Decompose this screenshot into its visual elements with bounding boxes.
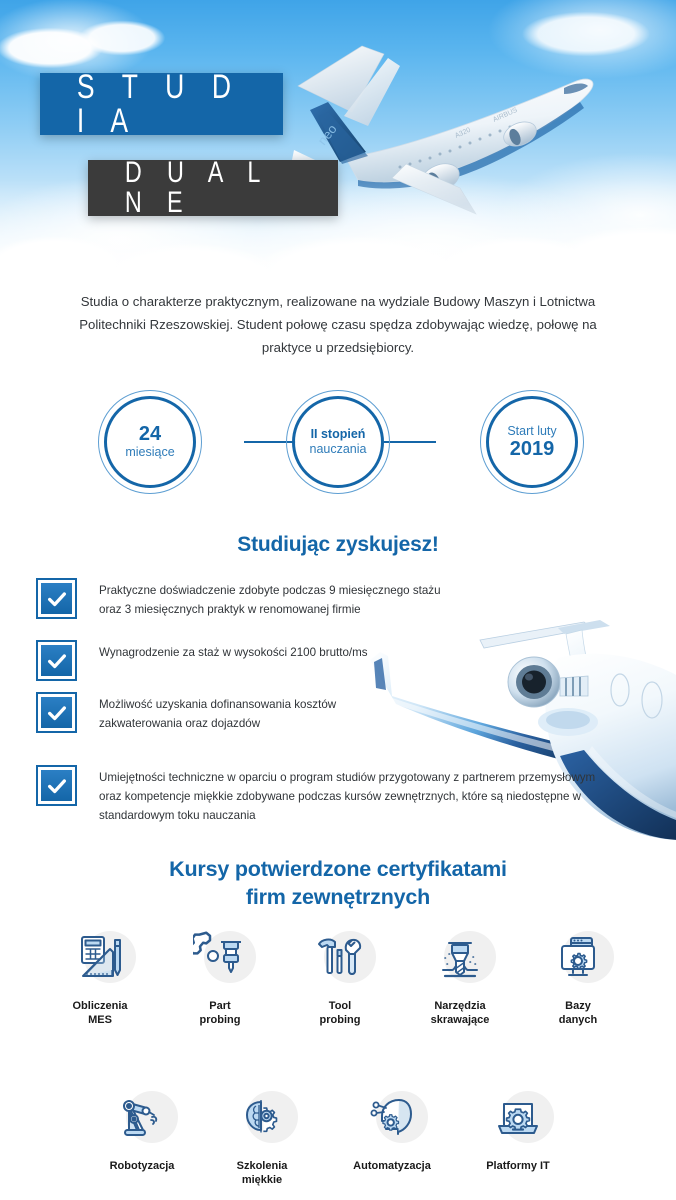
intro-paragraph: Studia o charakterze praktycznym, realiz… (60, 290, 616, 359)
course-item-bazy-danych: Bazydanych (518, 925, 638, 1027)
fact-start-label: Start luty (507, 424, 556, 438)
hammer-wrench-screwdriver-icon (280, 925, 400, 989)
course-item-robotyzacja: Robotyzacja (82, 1085, 202, 1173)
benefit-item: Wynagrodzenie za staż w wysokości 2100 b… (36, 640, 456, 681)
facts-row: 24 miesiące II stopień nauczania Start l… (0, 390, 676, 500)
inner-ring: Start luty 2019 (486, 396, 578, 488)
fact-circle-duration: 24 miesiące (104, 396, 196, 488)
inner-ring: II stopień nauczania (292, 396, 384, 488)
brain-gear-icon (202, 1085, 322, 1149)
course-label: Bazydanych (518, 999, 638, 1027)
course-item-narzedzia-skrawajace: Narzędziaskrawające (400, 925, 520, 1027)
hero-section: AIRBUS A320 neo (0, 0, 676, 300)
course-item-obliczenia-mes: ObliczeniaMES (40, 925, 160, 1027)
benefit-text: Wynagrodzenie za staż w wysokości 2100 b… (99, 640, 368, 662)
course-item-szkolenia-miekkie: Szkoleniamiękkie (202, 1085, 322, 1187)
laptop-gear-icon (458, 1085, 578, 1149)
course-item-part-probing: Partprobing (160, 925, 280, 1027)
course-label: Toolprobing (280, 999, 400, 1027)
fact-duration-unit: miesiące (125, 445, 174, 459)
title-band-studia: S T U D I A (40, 73, 283, 135)
course-label: Robotyzacja (82, 1159, 202, 1173)
check-icon (36, 692, 77, 733)
courses-row-1: ObliczeniaMES Partprobing (0, 925, 676, 1055)
milling-cutter-icon (400, 925, 520, 989)
benefit-item: Umiejętności techniczne w oparciu o prog… (36, 765, 606, 825)
title-studia: S T U D I A (67, 70, 257, 138)
course-label: Szkoleniamiękkie (202, 1159, 322, 1187)
course-label: Partprobing (160, 999, 280, 1027)
courses-heading-line1: Kursy potwierdzone certyfikatami (0, 855, 676, 883)
fact-level-label: nauczania (310, 442, 367, 456)
fact-circle-start: Start luty 2019 (486, 396, 578, 488)
course-label: ObliczeniaMES (40, 999, 160, 1027)
courses-heading-line2: firm zewnętrznych (0, 883, 676, 911)
monitor-gear-icon (518, 925, 638, 989)
fact-start-year: 2019 (510, 439, 555, 460)
courses-heading: Kursy potwierdzone certyfikatami firm ze… (0, 855, 676, 911)
check-icon (36, 765, 77, 806)
title-band-dualne: D U A L N E (88, 160, 338, 216)
fact-duration-value: 24 (139, 424, 161, 445)
connector-right (384, 441, 436, 443)
title-dualne: D U A L N E (116, 158, 311, 218)
course-item-tool-probing: Toolprobing (280, 925, 400, 1027)
head-gear-network-icon (332, 1085, 452, 1149)
benefits-heading: Studiując zyskujesz! (0, 533, 676, 557)
benefit-item: Praktyczne doświadczenie zdobyte podczas… (36, 578, 456, 619)
course-label: Narzędziaskrawające (400, 999, 520, 1027)
inner-ring: 24 miesiące (104, 396, 196, 488)
fact-circle-level: II stopień nauczania (292, 396, 384, 488)
benefit-text: Możliwość uzyskania dofinansowania koszt… (99, 692, 386, 733)
course-label: Platformy IT (458, 1159, 578, 1173)
course-label: Automatyzacja (332, 1159, 452, 1173)
course-item-automatyzacja: Automatyzacja (332, 1085, 452, 1173)
courses-row-2: Robotyzacja (0, 1085, 676, 1200)
check-icon (36, 640, 77, 681)
check-icon (36, 578, 77, 619)
calculator-ruler-pencil-icon (40, 925, 160, 989)
benefit-text: Umiejętności techniczne w oparciu o prog… (99, 765, 606, 825)
robot-arm-icon (82, 1085, 202, 1149)
infographic-page: AIRBUS A320 neo (0, 0, 676, 1200)
benefit-text: Praktyczne doświadczenie zdobyte podczas… (99, 578, 456, 619)
gear-probe-icon (160, 925, 280, 989)
benefit-item: Możliwość uzyskania dofinansowania koszt… (36, 692, 386, 733)
course-item-platformy-it: Platformy IT (458, 1085, 578, 1173)
fact-level-value: II stopień (311, 427, 366, 442)
